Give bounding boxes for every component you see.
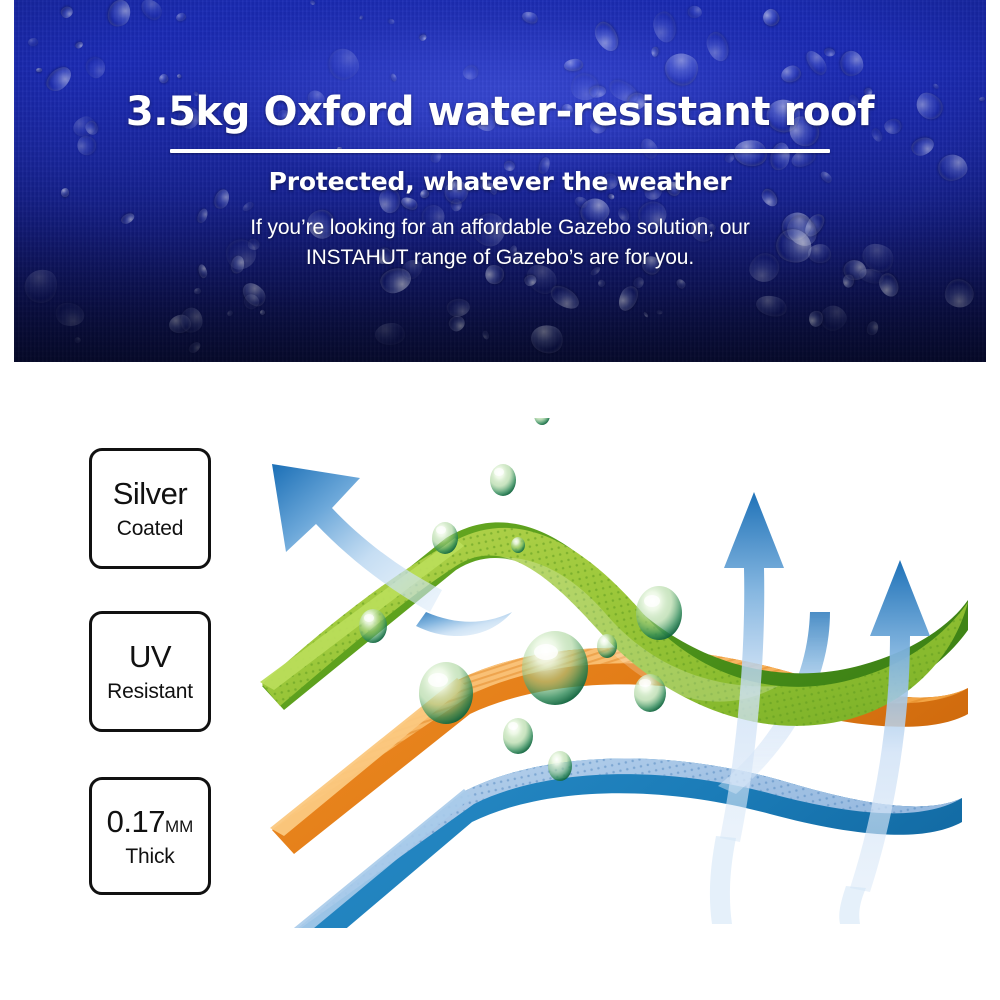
hero-description-line-1: If you’re looking for an affordable Gaze… xyxy=(14,213,986,243)
hero-description-line-2: INSTAHUT range of Gazebo’s are for you. xyxy=(14,243,986,273)
badge-thickness-main-label: 0.17MM xyxy=(107,806,194,837)
hero-description: If you’re looking for an affordable Gaze… xyxy=(14,196,986,273)
feature-badge-thickness: 0.17MM Thick xyxy=(89,777,211,895)
airflow-arrow-tails xyxy=(710,836,866,924)
feature-badge-silver-coated: Silver Coated xyxy=(89,448,211,569)
hero-banner: 3.5kg Oxford water-resistant roof Protec… xyxy=(14,0,986,362)
badge-uv-main-label: UV xyxy=(129,641,171,672)
layered-fabric-illustration xyxy=(250,418,970,928)
hero-subtitle: Protected, whatever the weather xyxy=(14,153,986,196)
badge-thickness-sub-label: Thick xyxy=(125,846,174,867)
badge-silver-sub-label: Coated xyxy=(117,518,184,539)
badge-silver-main-label: Silver xyxy=(113,478,188,509)
badge-thickness-unit: MM xyxy=(165,817,193,836)
hero-text-block: 3.5kg Oxford water-resistant roof Protec… xyxy=(14,0,986,273)
feature-badge-uv-resistant: UV Resistant xyxy=(89,611,211,732)
badge-uv-sub-label: Resistant xyxy=(107,681,193,702)
badge-thickness-value: 0.17 xyxy=(107,804,165,839)
page-title: 3.5kg Oxford water-resistant roof xyxy=(14,0,986,132)
